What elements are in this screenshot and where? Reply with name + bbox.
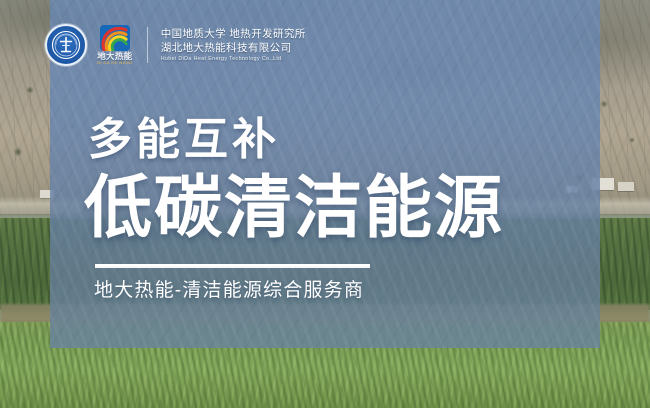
promo-banner: 地大热能 DI DA RE NENG 中国地质大学 地热开发研究所 湖北地大热能… (0, 0, 650, 408)
organization-names: 中国地质大学 地热开发研究所 湖北地大热能科技有限公司 Hubei DiDa H… (161, 28, 306, 63)
company-mark-label: 地大热能 (97, 52, 132, 61)
org-name-company-english: Hubei DiDa Heat Energy Technology Co.,Lt… (161, 56, 306, 62)
hero-kicker: 多能互补 (88, 118, 280, 162)
vertical-divider (147, 27, 148, 63)
hero-tagline: 地大热能-清洁能源综合服务商 (94, 280, 364, 303)
org-name-company: 湖北地大热能科技有限公司 (161, 42, 306, 54)
hero-divider (95, 264, 370, 266)
hero-headline: 低碳清洁能源 (84, 174, 504, 242)
company-mark: 地大热能 DI DA RE NENG (96, 25, 134, 66)
rainbow-arc-icon (100, 25, 130, 51)
company-mark-pinyin: DI DA RE NENG (97, 61, 133, 65)
university-crest-icon (45, 24, 87, 66)
org-name-institute: 中国地质大学 地热开发研究所 (161, 28, 306, 40)
brand-lockup: 地大热能 DI DA RE NENG 中国地质大学 地热开发研究所 湖北地大热能… (45, 22, 306, 68)
far-building (618, 182, 634, 191)
